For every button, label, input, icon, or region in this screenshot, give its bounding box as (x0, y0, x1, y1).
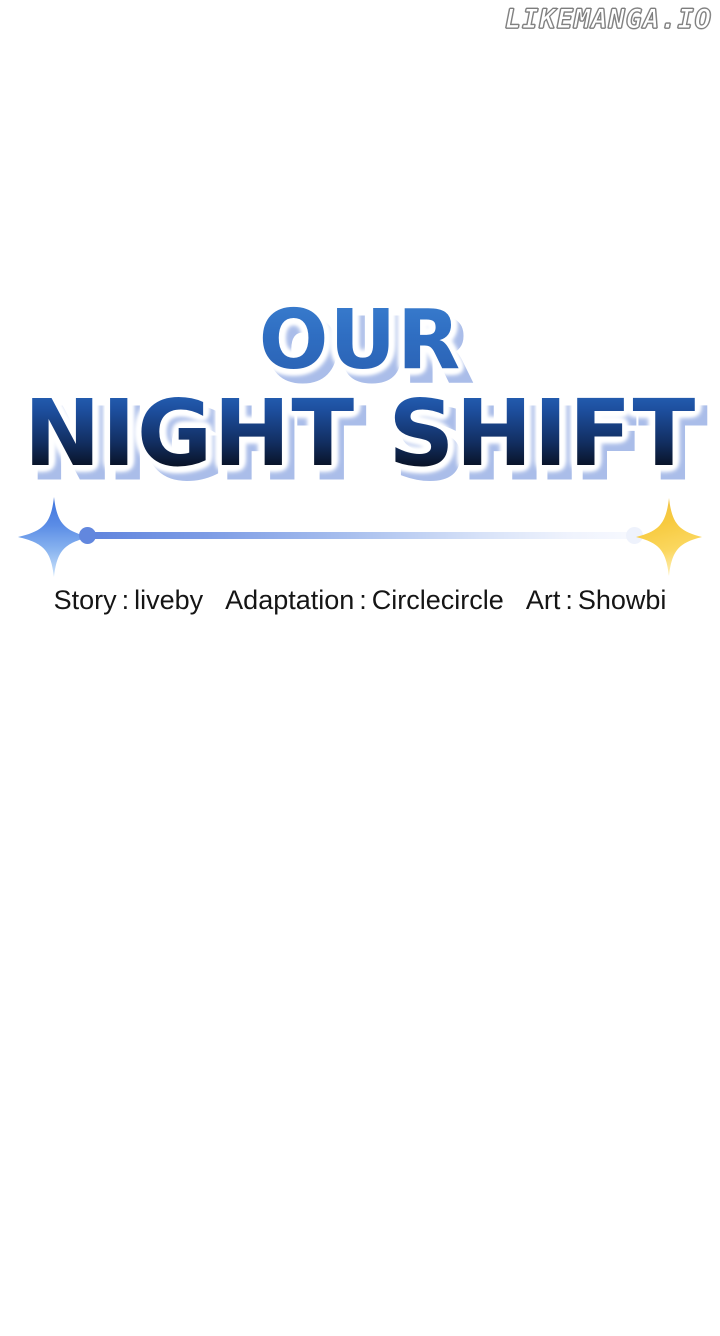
title-line-our: OUR OUR (0, 300, 720, 382)
credit-art-name: Showbi (578, 585, 667, 616)
title-block: OUR OUR NIGHT SHIFT NIGHT SHIFT (0, 300, 720, 480)
site-watermark: LIKEMANGA.IO (505, 4, 712, 35)
title-line-night-shift: NIGHT SHIFT NIGHT SHIFT (0, 388, 720, 480)
yellow-sparkle-icon (636, 498, 702, 576)
credit-adaptation-separator: : (354, 585, 372, 616)
credit-art: Art (526, 585, 561, 616)
comic-title-page: LIKEMANGA.IO OUR OUR NIGHT SHIFT NIGHT S… (0, 0, 720, 1336)
credit-story-separator: : (117, 585, 135, 616)
credit-adaptation: Adaptation (225, 585, 354, 616)
title-line-our-text: OUR (259, 293, 461, 388)
credits-line: Story:livebyAdaptation:CirclecircleArt:S… (0, 585, 720, 616)
title-line-night-shift-text: NIGHT SHIFT (24, 380, 697, 487)
credit-adaptation-name: Circlecircle (372, 585, 504, 616)
credit-art-separator: : (560, 585, 578, 616)
credit-story: Story (54, 585, 117, 616)
credit-story-name: liveby (134, 585, 203, 616)
divider-bar (86, 532, 634, 539)
decorative-divider (0, 497, 720, 577)
divider-dot-left (79, 527, 96, 544)
